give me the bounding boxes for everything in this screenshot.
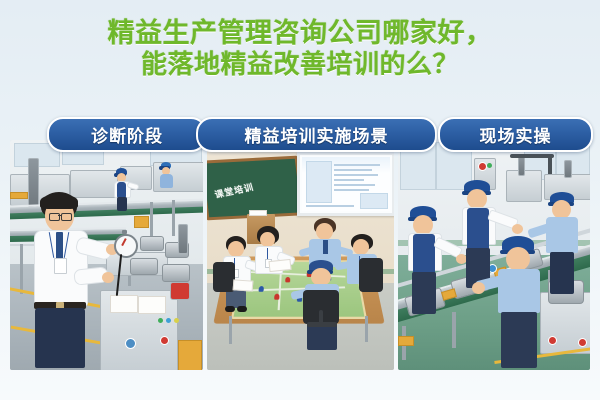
panel-onsite-practice[interactable]: [398, 140, 590, 370]
title-line-1: 精益生产管理咨询公司哪家好，: [0, 18, 600, 49]
badge-diagnosis-stage[interactable]: 诊断阶段: [47, 117, 207, 152]
assembly-line-illustration: [398, 140, 590, 370]
poster-canvas: 精益生产管理咨询公司哪家好， 能落地精益改善培训的么？ 诊断阶段 精益培训实施场…: [0, 0, 600, 400]
section-label-row: 诊断阶段 精益培训实施场景 现场实操: [0, 117, 600, 149]
factory-observation-illustration: [10, 140, 203, 370]
blackboard-text: 课堂培训: [213, 180, 255, 201]
panel-lean-training[interactable]: 课堂培训: [207, 140, 394, 370]
badge-lean-training-scene[interactable]: 精益培训实施场景: [196, 117, 437, 152]
title-line-2: 能落地精益改善培训的么？: [0, 49, 600, 79]
panel-diagnosis-stage[interactable]: [10, 140, 203, 370]
photo-panel-row: 课堂培训: [10, 140, 590, 370]
classroom-training-illustration: 课堂培训: [207, 140, 394, 370]
badge-onsite-practice[interactable]: 现场实操: [438, 117, 593, 152]
page-title: 精益生产管理咨询公司哪家好， 能落地精益改善培训的么？: [0, 18, 600, 79]
